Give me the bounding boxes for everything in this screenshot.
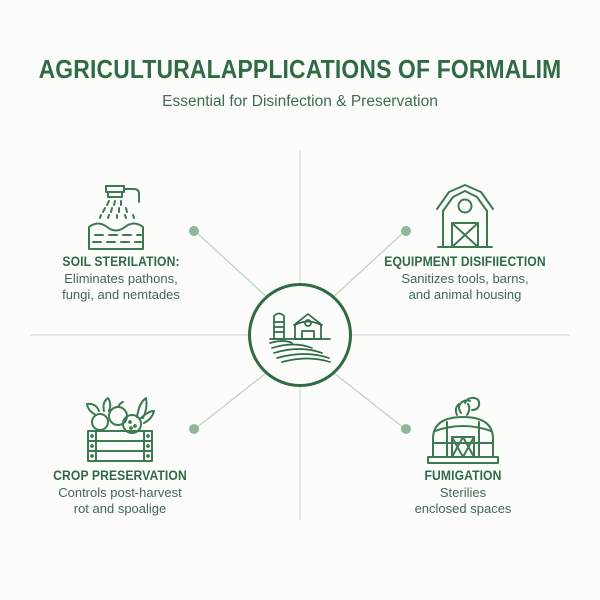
node-soil-sterilization: SOIL STERILATION: Eliminates pathons, fu… — [26, 178, 216, 302]
page-title: AGRICULTURALAPPLICATIONS OF FORMALIM — [36, 54, 564, 84]
infographic-canvas: AGRICULTURALAPPLICATIONS OF FORMALIM Ess… — [0, 0, 600, 600]
node-soil-body-line-1: Eliminates pathons, — [26, 271, 216, 287]
header: AGRICULTURALAPPLICATIONS OF FORMALIM Ess… — [0, 54, 600, 112]
node-equipment-disinfection: EQUIPMENT DISIFIIECTION Sanitizes tools,… — [370, 178, 560, 302]
node-soil-heading: SOIL STERILATION: — [36, 254, 207, 269]
node-equipment-body-line-2: and animal housing — [370, 287, 560, 303]
node-equipment-heading: EQUIPMENT DISIFIIECTION — [380, 254, 551, 269]
node-fumigation-body: Sterilies enclosed spaces — [368, 485, 558, 516]
farm-barn-silo-field-icon — [264, 303, 336, 367]
sprinkler-soil-bed-icon — [26, 178, 216, 254]
greenhouse-smoke-icon — [368, 392, 558, 468]
node-soil-body: Eliminates pathons, fungi, and nemtades — [26, 271, 216, 302]
node-fumigation-body-line-1: Sterilies — [368, 485, 558, 501]
node-equipment-body-line-1: Sanitizes tools, barns, — [370, 271, 560, 287]
page-subtitle: Essential for Disinfection & Preservatio… — [0, 92, 600, 112]
node-crop-body: Controls post-harvest rot and spoalige — [25, 485, 215, 516]
barn-icon — [370, 178, 560, 254]
node-fumigation-heading: FUMIGATION — [378, 468, 549, 483]
center-medallion — [248, 283, 352, 387]
node-equipment-body: Sanitizes tools, barns, and animal housi… — [370, 271, 560, 302]
node-crop-body-line-1: Controls post-harvest — [25, 485, 215, 501]
node-crop-heading: CROP PRESERVATION — [35, 468, 206, 483]
node-fumigation-body-line-2: enclosed spaces — [368, 501, 558, 517]
node-crop-body-line-2: rot and spoalige — [25, 501, 215, 517]
node-fumigation: FUMIGATION Sterilies enclosed spaces — [368, 392, 558, 516]
produce-crate-icon — [25, 392, 215, 468]
node-soil-body-line-2: fungi, and nemtades — [26, 287, 216, 303]
node-crop-preservation: CROP PRESERVATION Controls post-harvest … — [25, 392, 215, 516]
